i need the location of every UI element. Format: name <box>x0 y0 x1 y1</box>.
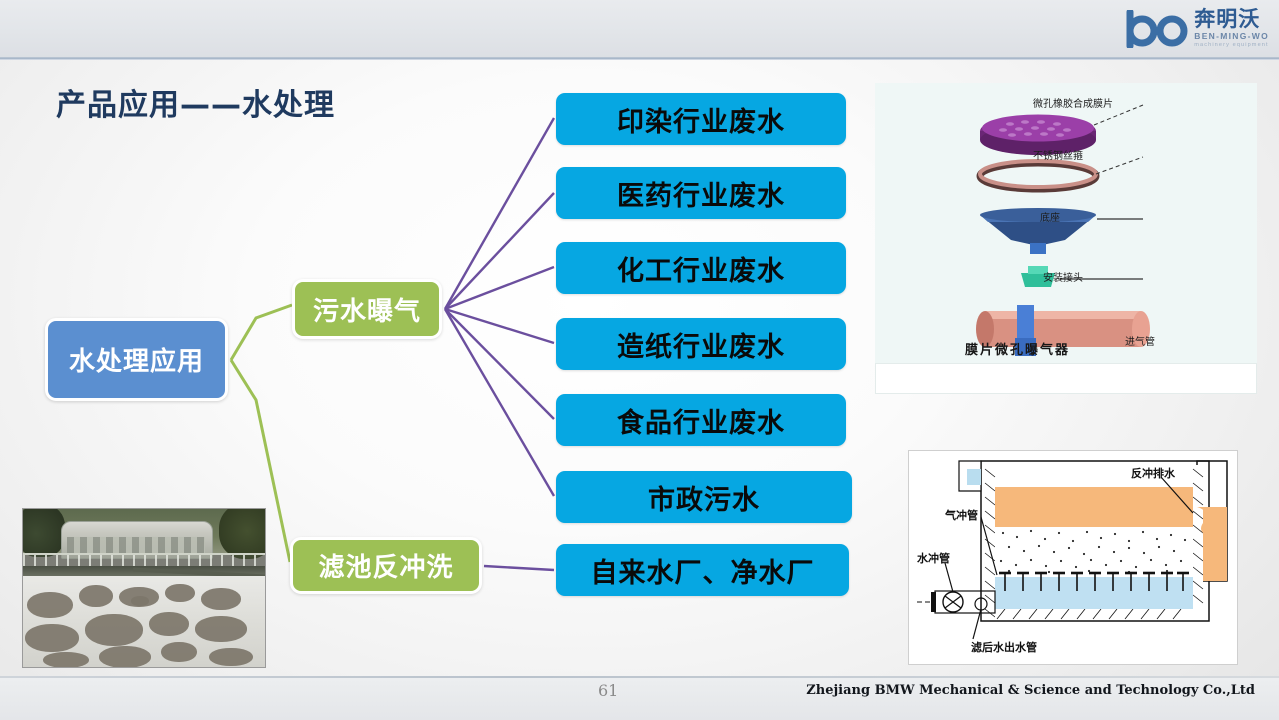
backwash-schematic <box>909 451 1237 664</box>
backwash-label-3: 滤后水出水管 <box>971 639 1037 655</box>
backwash-label-0: 反冲排水 <box>1131 465 1175 481</box>
mindmap-leaf-5[interactable]: 市政污水 <box>556 471 852 523</box>
aerator-diagram-panel: 微孔橡胶合成膜片 不锈钢丝箍 底座 安装接头 进气管 膜片微孔曝气器 <box>875 83 1257 363</box>
aerator-exploded-diagram <box>875 83 1257 363</box>
aeration-basin-photo <box>22 508 266 668</box>
photo-building-windows <box>67 537 205 554</box>
mindmap-leaf-4[interactable]: 食品行业废水 <box>556 394 846 446</box>
photo-tree-right <box>219 508 266 559</box>
mindmap-leaf-3[interactable]: 造纸行业废水 <box>556 318 846 370</box>
company-name-footer: Zhejiang BMW Mechanical & Science and Te… <box>806 683 1255 698</box>
photo-foam-basin <box>23 576 265 667</box>
aerator-label-0: 微孔橡胶合成膜片 <box>1033 95 1113 110</box>
aerator-label-4: 进气管 <box>1125 333 1155 348</box>
aerator-panel-footer <box>875 363 1257 394</box>
mindmap-leaf-6[interactable]: 自来水厂、净水厂 <box>556 544 849 596</box>
backwash-label-2: 水冲管 <box>917 550 950 566</box>
mindmap-leaf-0[interactable]: 印染行业废水 <box>556 93 846 145</box>
mindmap-leaf-1[interactable]: 医药行业废水 <box>556 167 846 219</box>
page-number: 61 <box>598 681 618 700</box>
photo-tree-left <box>22 508 65 557</box>
aerator-label-3: 安装接头 <box>1043 269 1083 284</box>
slide-canvas: 奔明沃 BEN-MING-WO machinery equipment 产品应用… <box>0 0 1279 720</box>
aerator-label-2: 底座 <box>1040 209 1060 224</box>
mindmap-branch-aeration[interactable]: 污水曝气 <box>292 279 442 339</box>
aerator-label-1: 不锈钢丝箍 <box>1033 147 1083 162</box>
backwash-label-1: 气冲管 <box>945 507 978 523</box>
aerator-caption: 膜片微孔曝气器 <box>965 339 1070 358</box>
mindmap-root-node[interactable]: 水处理应用 <box>45 318 228 401</box>
backwash-diagram-panel: 反冲排水 气冲管 水冲管 滤后水出水管 <box>908 450 1238 665</box>
mindmap-leaf-2[interactable]: 化工行业废水 <box>556 242 846 294</box>
mindmap-branch-backwash[interactable]: 滤池反冲洗 <box>290 537 482 594</box>
